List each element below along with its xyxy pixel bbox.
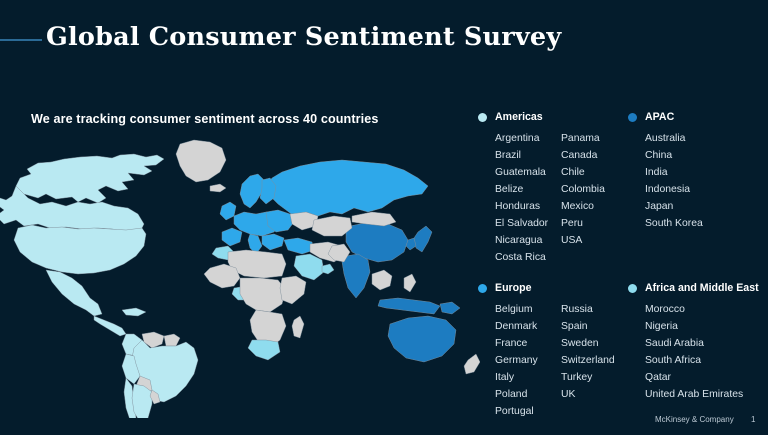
- legend-header-europe: Europe: [478, 281, 651, 295]
- country-turkey: [284, 238, 314, 254]
- slide-canvas: Global Consumer Sentiment Survey We are …: [0, 0, 768, 435]
- country-uk-ireland: [220, 202, 236, 220]
- country-central-africa: [240, 278, 286, 312]
- list-item: Qatar: [645, 369, 768, 386]
- country-caribbean: [122, 308, 146, 316]
- list-item: Japan: [645, 198, 755, 215]
- list-item: Australia: [645, 130, 755, 147]
- legend-columns-apac: Australia China India Indonesia Japan So…: [645, 130, 755, 232]
- list-item: Denmark: [495, 318, 561, 335]
- country-canada: [16, 154, 164, 203]
- list-item: Belize: [495, 181, 561, 198]
- country-png: [440, 302, 460, 314]
- legend-column-1-africa-middle-east: Morocco Nigeria Saudi Arabia South Afric…: [645, 301, 768, 403]
- world-map: [0, 128, 480, 418]
- list-item: France: [495, 335, 561, 352]
- legend-header-africa-middle-east: Africa and Middle East: [628, 281, 768, 295]
- legend-bullet-icon-apac: [628, 113, 637, 122]
- country-uae-qatar: [322, 264, 334, 274]
- country-greenland: [176, 140, 226, 182]
- list-item: El Salvador: [495, 215, 561, 232]
- country-sea-grey: [372, 270, 392, 290]
- list-item: Poland: [495, 386, 561, 403]
- list-item: Italy: [495, 369, 561, 386]
- list-item: Argentina: [495, 130, 561, 147]
- legend-group-europe: Europe Belgium Denmark France Germany It…: [478, 281, 651, 420]
- legend-group-africa-middle-east: Africa and Middle East Morocco Nigeria S…: [628, 281, 768, 403]
- list-item: India: [645, 164, 755, 181]
- footer-brand: McKinsey & Company: [655, 415, 734, 424]
- list-item: China: [645, 147, 755, 164]
- list-item: Guatemala: [495, 164, 561, 181]
- country-mongolia-grey: [352, 212, 396, 226]
- country-kazakhstan-grey: [312, 216, 352, 236]
- country-south-africa: [248, 340, 280, 360]
- list-item: Honduras: [495, 198, 561, 215]
- legend-column-1-apac: Australia China India Indonesia Japan So…: [645, 130, 755, 232]
- country-india: [342, 254, 370, 298]
- country-central-america: [94, 316, 126, 336]
- legend-column-1-europe: Belgium Denmark France Germany Italy Pol…: [495, 301, 561, 420]
- country-east-africa: [280, 276, 306, 304]
- country-philippines-grey: [404, 274, 416, 292]
- list-item: Costa Rica: [495, 249, 561, 266]
- legend-column-1-americas: Argentina Brazil Guatemala Belize Hondur…: [495, 130, 561, 266]
- country-west-africa: [204, 264, 240, 288]
- legend-bullet-icon-americas: [478, 113, 487, 122]
- slide-subtitle: We are tracking consumer sentiment acros…: [31, 112, 378, 126]
- list-item: Nigeria: [645, 318, 768, 335]
- list-item: South Korea: [645, 215, 755, 232]
- country-russia: [266, 160, 428, 216]
- legend-columns-africa-middle-east: Morocco Nigeria Saudi Arabia South Afric…: [645, 301, 768, 403]
- legend-title-americas: Americas: [495, 111, 543, 123]
- list-item: Morocco: [645, 301, 768, 318]
- page-title: Global Consumer Sentiment Survey: [46, 22, 561, 52]
- legend-header-apac: APAC: [628, 110, 755, 124]
- country-madagascar: [292, 316, 304, 338]
- country-scandinavia: [240, 174, 264, 208]
- legend-header-americas: Americas: [478, 110, 651, 124]
- country-mexico: [46, 270, 102, 316]
- legend-title-africa-middle-east: Africa and Middle East: [645, 282, 759, 294]
- legend-group-americas: Americas Argentina Brazil Guatemala Beli…: [478, 110, 651, 266]
- legend-bullet-icon-europe: [478, 284, 487, 293]
- country-indonesia: [378, 298, 440, 314]
- list-item: Indonesia: [645, 181, 755, 198]
- list-item: South Africa: [645, 352, 768, 369]
- legend-title-europe: Europe: [495, 282, 532, 294]
- country-guyana-suriname: [164, 334, 180, 346]
- country-japan: [414, 226, 432, 252]
- country-usa: [14, 225, 146, 274]
- list-item: Saudi Arabia: [645, 335, 768, 352]
- country-australia: [388, 316, 456, 362]
- legend-title-apac: APAC: [645, 111, 674, 123]
- title-accent-line: [0, 39, 42, 41]
- list-item: Nicaragua: [495, 232, 561, 249]
- list-item: Brazil: [495, 147, 561, 164]
- country-iberia: [222, 228, 242, 246]
- legend-group-apac: APAC Australia China India Indonesia Jap…: [628, 110, 755, 232]
- list-item: Germany: [495, 352, 561, 369]
- footer-page-number: 1: [751, 415, 755, 424]
- legend-bullet-icon-africa-middle-east: [628, 284, 637, 293]
- list-item: United Arab Emirates: [645, 386, 768, 403]
- list-item: USA: [561, 232, 651, 249]
- country-balkans: [262, 234, 284, 250]
- list-item: Belgium: [495, 301, 561, 318]
- list-item: Portugal: [495, 403, 561, 420]
- country-iceland: [210, 184, 226, 192]
